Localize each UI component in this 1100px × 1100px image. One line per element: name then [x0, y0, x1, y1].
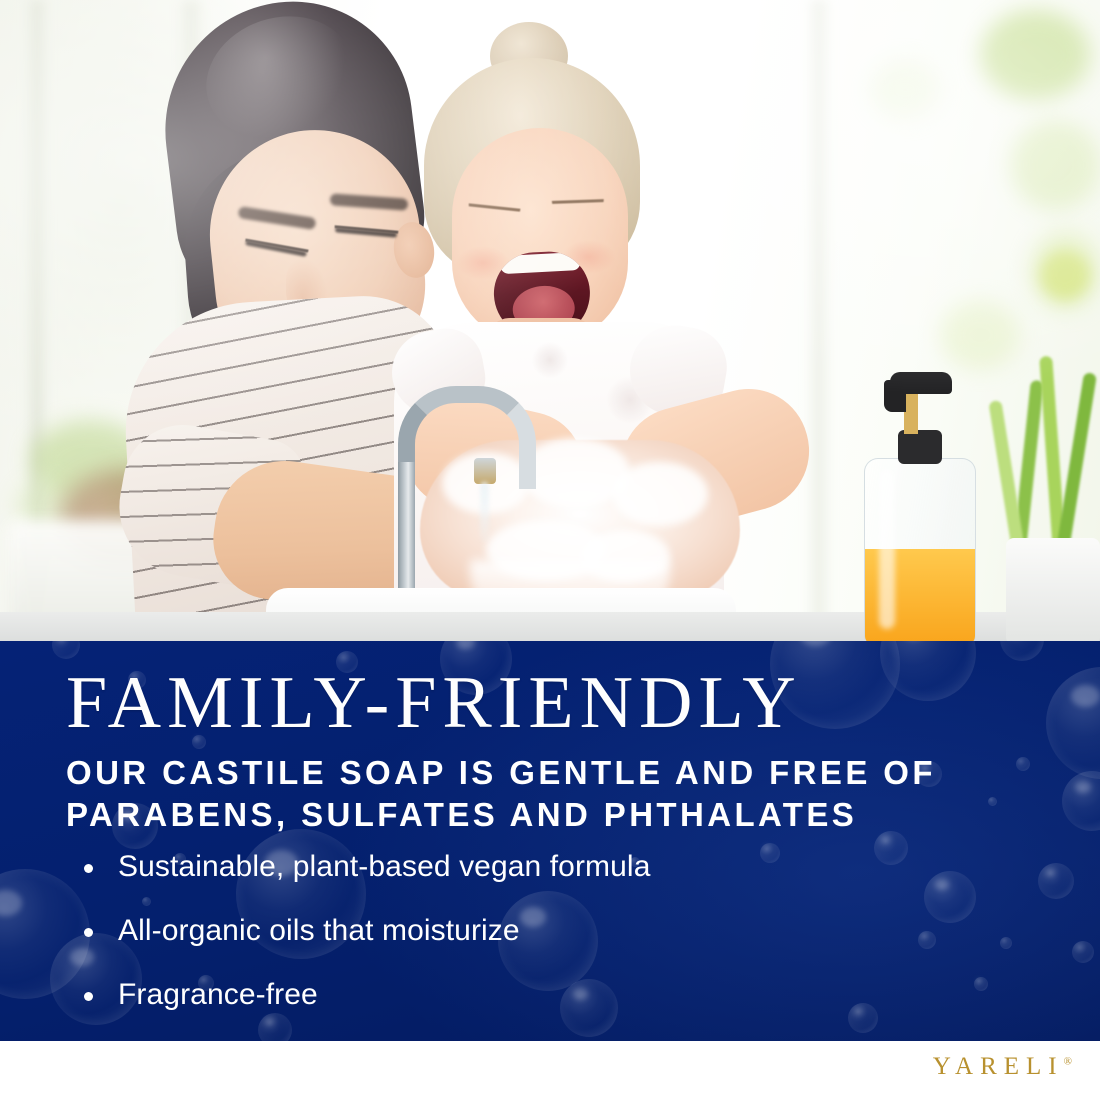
page-title: FAMILY-FRIENDLY — [66, 666, 802, 740]
subheadline-line-1: OUR CASTILE SOAP IS GENTLE AND FREE OF — [66, 752, 936, 794]
subheadline: OUR CASTILE SOAP IS GENTLE AND FREE OF P… — [66, 752, 936, 836]
brand-logo: YARELI® — [933, 1053, 1072, 1081]
list-item-label: All-organic oils that moisturize — [118, 914, 520, 947]
list-item: Fragrance-free — [78, 980, 650, 1010]
bullet-dot-icon — [84, 992, 93, 1001]
list-item-label: Sustainable, plant-based vegan formula — [118, 850, 650, 883]
brand-name: YARELI — [933, 1053, 1064, 1080]
benefit-list: Sustainable, plant-based vegan formula A… — [78, 852, 650, 1044]
bullet-dot-icon — [84, 928, 93, 937]
list-item: Sustainable, plant-based vegan formula — [78, 852, 650, 882]
subheadline-line-2: PARABENS, SULFATES AND PHTHALATES — [66, 794, 936, 836]
list-item: All-organic oils that moisturize — [78, 916, 650, 946]
registered-trademark-icon: ® — [1064, 1056, 1072, 1068]
panel-content: FAMILY-FRIENDLY OUR CASTILE SOAP IS GENT… — [0, 0, 1100, 1100]
list-item-label: Fragrance-free — [118, 978, 318, 1011]
product-feature-card: FAMILY-FRIENDLY OUR CASTILE SOAP IS GENT… — [0, 0, 1100, 1100]
bullet-dot-icon — [84, 864, 93, 873]
